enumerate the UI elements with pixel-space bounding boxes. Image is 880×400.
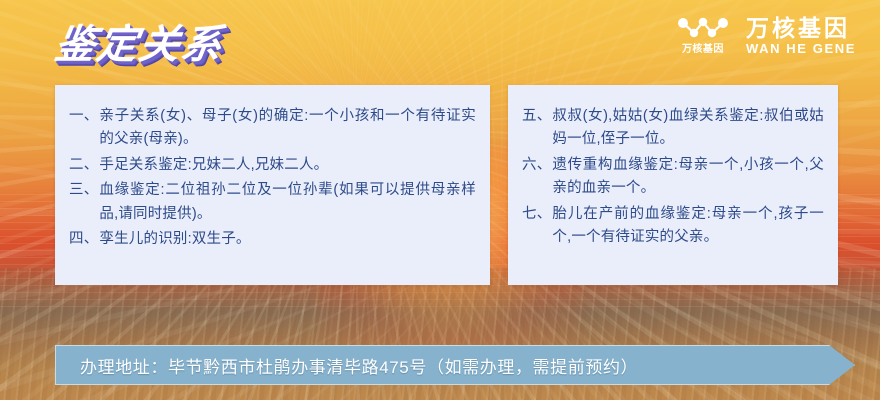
brand-logo-text: 万核基因 [682,45,724,55]
molecule-icon [676,16,730,42]
brand-name-cn: 万核基因 [746,16,850,40]
list-item-number: 一、 [69,105,99,128]
list-item-number: 二、 [69,154,99,177]
list-item: 二、 手足关系鉴定:兄妹二人,兄妹二人。 [69,154,476,177]
address-banner: 办理地址：毕节黔西市杜鹃办事清毕路475号（如需办理，需提前预约） [55,345,855,385]
list-item: 三、 血缘鉴定:二位祖孙二位及一位孙辈(如果可以提供母亲样品,请同时提供)。 [69,179,476,226]
list-item: 四、 孪生儿的识别:双生子。 [69,228,476,251]
list-item-text: 血缘鉴定:二位祖孙二位及一位孙辈(如果可以提供母亲样品,请同时提供)。 [99,179,476,226]
list-item-number: 五、 [522,105,552,128]
page-title: 鉴定关系 [51,12,228,70]
list-item-text: 手足关系鉴定:兄妹二人,兄妹二人。 [99,154,476,177]
brand-lockup: 万核基因 万核基因 WAN HE GENE [676,16,856,55]
brand-name-en: WAN HE GENE [746,42,856,55]
brand-name-block: 万核基因 WAN HE GENE [746,16,856,55]
panel-left: 一、 亲子关系(女)、母子(女)的确定:一个小孩和一个有待证实的父亲(母亲)。 … [55,85,490,285]
list-item-text: 孪生儿的识别:双生子。 [99,228,476,251]
list-item: 一、 亲子关系(女)、母子(女)的确定:一个小孩和一个有待证实的父亲(母亲)。 [69,105,476,152]
list-item-text: 亲子关系(女)、母子(女)的确定:一个小孩和一个有待证实的父亲(母亲)。 [99,105,476,152]
content-panels: 一、 亲子关系(女)、母子(女)的确定:一个小孩和一个有待证实的父亲(母亲)。 … [0,85,880,285]
poster-canvas: 鉴定关系 [0,0,880,400]
list-item: 七、 胎儿在产前的血缘鉴定:母亲一个,孩子一个,一个有待证实的父亲。 [522,203,824,250]
list-item-text: 叔叔(女),姑姑(女)血绿关系鉴定:叔伯或姑妈一位,侄子一位。 [552,105,824,152]
list-item-number: 七、 [522,203,552,226]
list-item-number: 四、 [69,228,99,251]
list-item-number: 六、 [522,154,552,177]
header: 鉴定关系 [0,0,880,86]
address-text: 办理地址：毕节黔西市杜鹃办事清毕路475号（如需办理，需提前预约） [56,353,638,378]
list-item-text: 遗传重构血缘鉴定:母亲一个,小孩一个,父亲的血亲一个。 [552,154,824,201]
brand-logo: 万核基因 [676,16,730,55]
list-item: 五、 叔叔(女),姑姑(女)血绿关系鉴定:叔伯或姑妈一位,侄子一位。 [522,105,824,152]
list-item-text: 胎儿在产前的血缘鉴定:母亲一个,孩子一个,一个有待证实的父亲。 [552,203,824,250]
panel-right: 五、 叔叔(女),姑姑(女)血绿关系鉴定:叔伯或姑妈一位,侄子一位。 六、 遗传… [508,85,838,285]
list-item: 六、 遗传重构血缘鉴定:母亲一个,小孩一个,父亲的血亲一个。 [522,154,824,201]
list-item-number: 三、 [69,179,99,202]
